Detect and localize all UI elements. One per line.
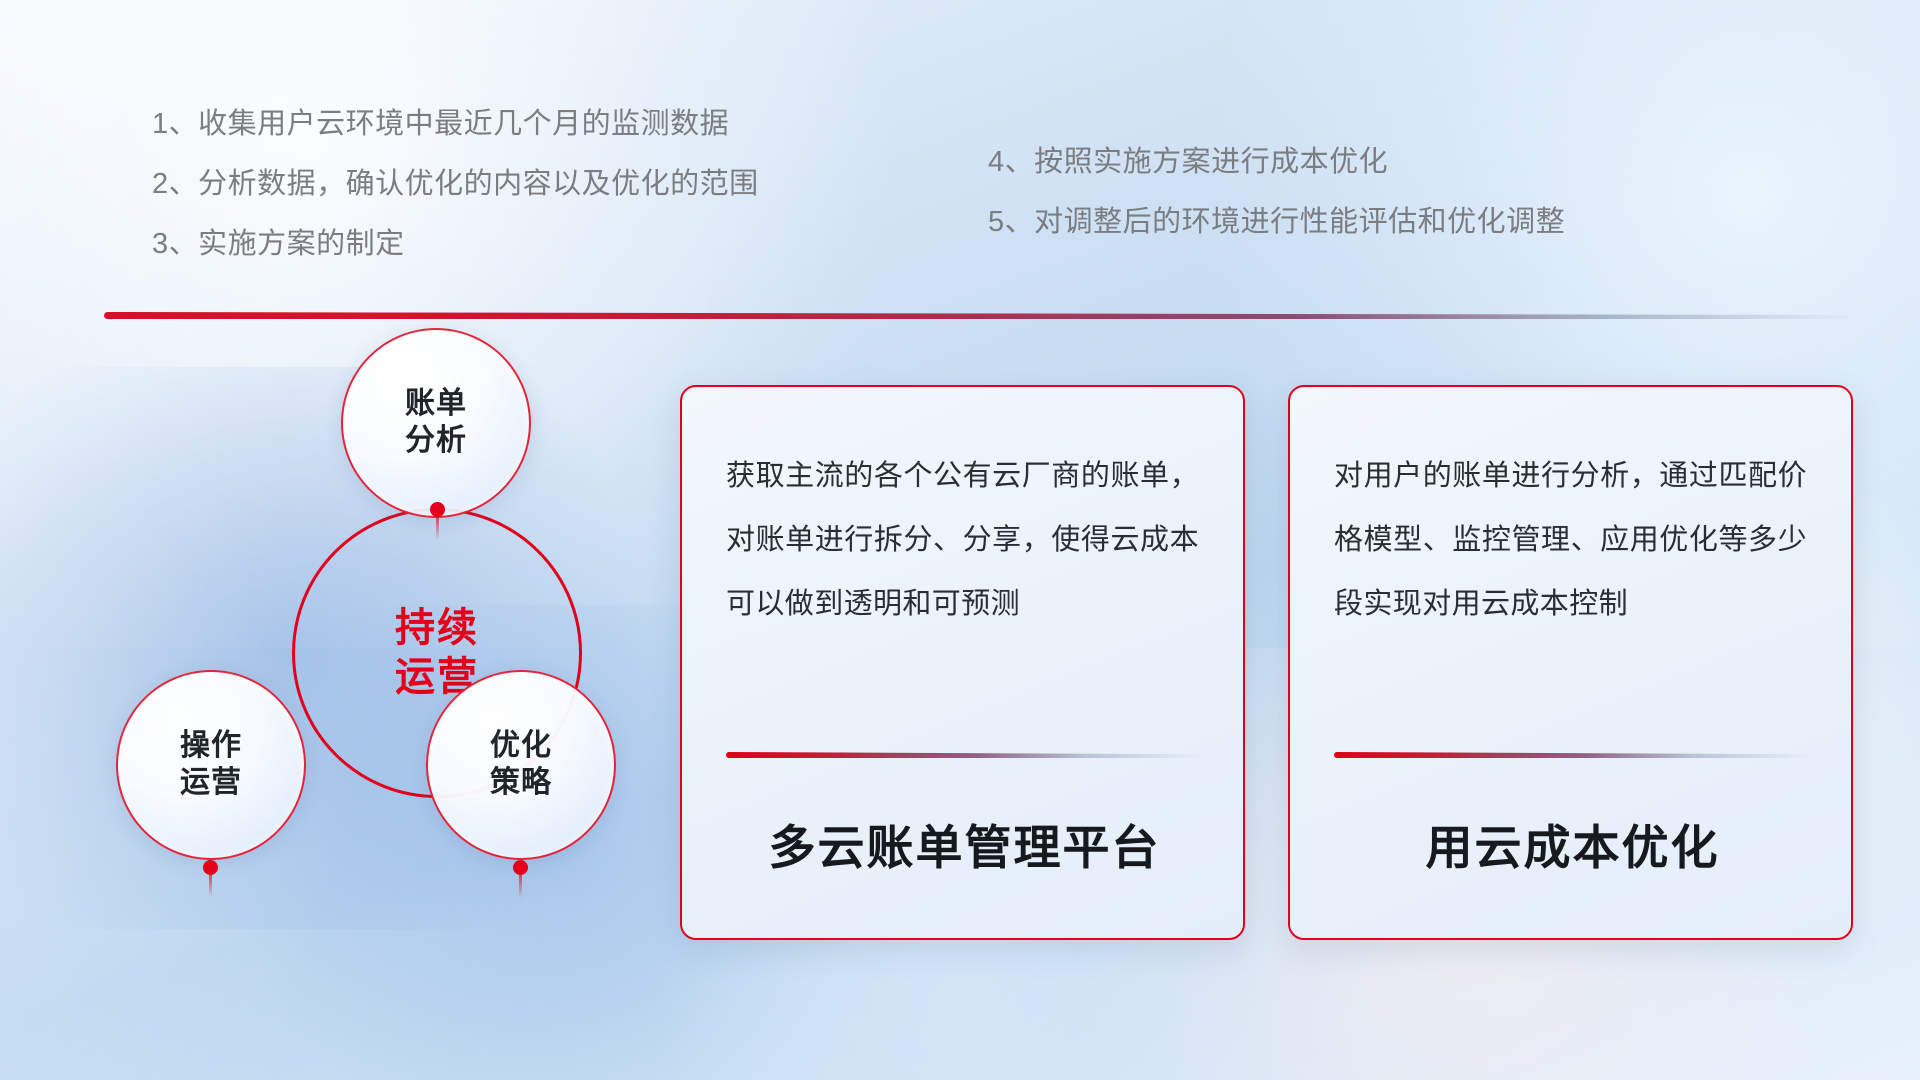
bubble-label: 优化策略	[490, 728, 552, 801]
diagram-bubble-optimization-strategy[interactable]: 优化策略	[426, 670, 616, 860]
card-cloud-cost-optimization[interactable]: 对用户的账单进行分析，通过匹配价格模型、监控管理、应用优化等多少段实现对用云成本…	[1288, 385, 1853, 940]
card-accent-rule	[726, 752, 1203, 758]
card-title: 多云账单管理平台	[726, 820, 1203, 876]
step-item: 1、收集用户云环境中最近几个月的监测数据	[152, 110, 759, 139]
card-body-text: 获取主流的各个公有云厂商的账单，对账单进行拆分、分享，使得云成本可以做到透明和可…	[726, 445, 1199, 636]
steps-left-column: 1、收集用户云环境中最近几个月的监测数据 2、分析数据，确认优化的内容以及优化的…	[152, 110, 759, 290]
card-title: 用云成本优化	[1334, 820, 1811, 876]
card-multicloud-billing-platform[interactable]: 获取主流的各个公有云厂商的账单，对账单进行拆分、分享，使得云成本可以做到透明和可…	[680, 385, 1245, 940]
diagram-bubble-billing-analysis[interactable]: 账单分析	[341, 328, 531, 518]
step-item: 2、分析数据，确认优化的内容以及优化的范围	[152, 170, 759, 199]
diagram-node-dot-top	[430, 502, 445, 517]
diagram-bubble-operations[interactable]: 操作运营	[116, 670, 306, 860]
step-item: 3、实施方案的制定	[152, 230, 759, 259]
continuous-operation-diagram: 持续运营 账单分析 操作运营 优化策略	[96, 340, 656, 950]
card-body-text: 对用户的账单进行分析，通过匹配价格模型、监控管理、应用优化等多少段实现对用云成本…	[1334, 445, 1807, 636]
card-accent-rule	[1334, 752, 1811, 758]
diagram-node-dot-left	[203, 860, 218, 875]
steps-right-column: 4、按照实施方案进行成本优化 5、对调整后的环境进行性能评估和优化调整	[988, 148, 1565, 268]
step-item: 5、对调整后的环境进行性能评估和优化调整	[988, 208, 1565, 237]
bubble-label: 操作运营	[180, 728, 242, 801]
step-item: 4、按照实施方案进行成本优化	[988, 148, 1565, 177]
bubble-label: 账单分析	[405, 386, 467, 459]
diagram-node-dot-right	[513, 860, 528, 875]
steps-section: 1、收集用户云环境中最近几个月的监测数据 2、分析数据，确认优化的内容以及优化的…	[0, 110, 1920, 300]
